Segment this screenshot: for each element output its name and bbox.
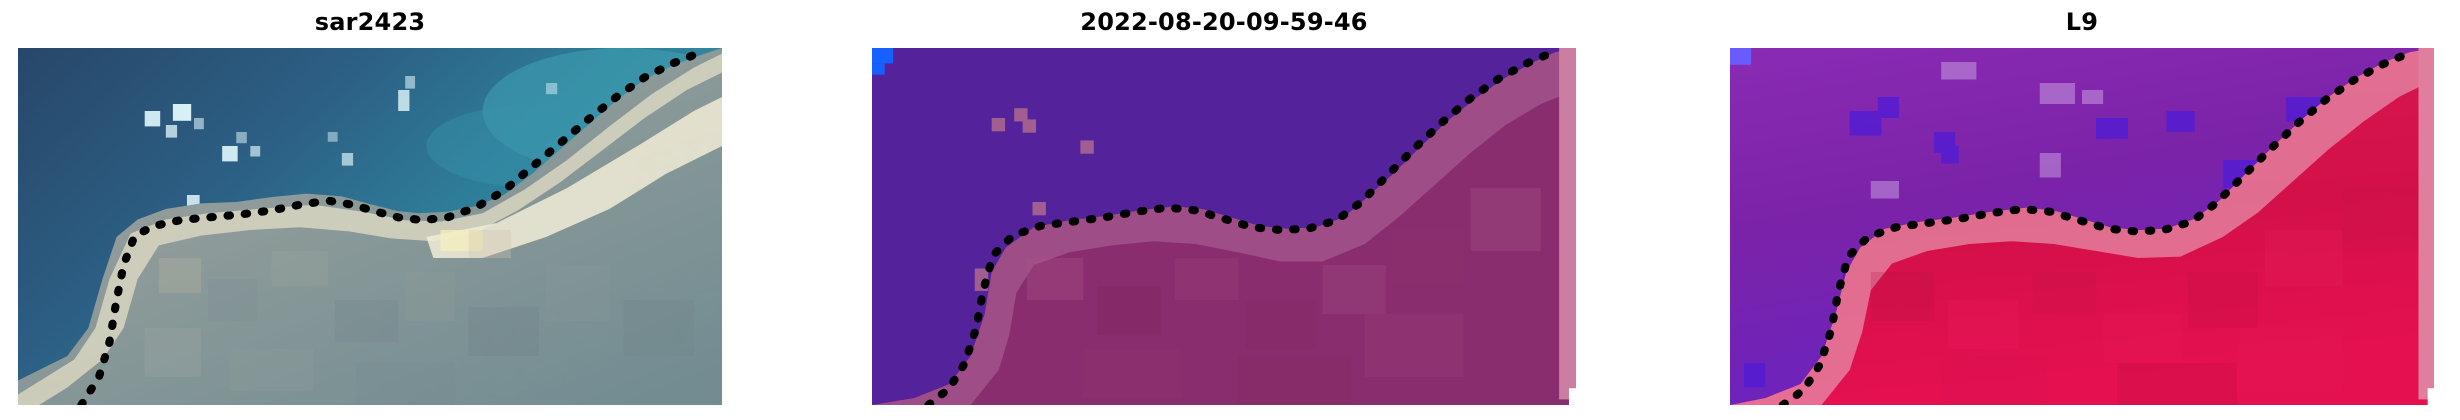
image-panel-classification[interactable]: sand whitewater water shoreline referenc…: [872, 48, 1576, 405]
reference-shoreline-buffer-strip: [1559, 48, 1576, 399]
index-false-colour-raster: [1730, 48, 2434, 405]
panel-title-2: 2022-08-20-09-59-46: [872, 8, 1576, 36]
image-panel-sar2423[interactable]: [18, 48, 722, 405]
reference-shoreline-buffer-strip: [2419, 48, 2434, 399]
panel-title-1: sar2423: [18, 8, 722, 36]
water-class-patch: [1730, 48, 1751, 65]
figure-root: sar2423 2022-08-20-09-59-46 L9: [0, 0, 2460, 420]
satellite-rgb-raster: [18, 48, 722, 405]
panel-title-3: L9: [1730, 8, 2434, 36]
classification-raster: [872, 48, 1576, 405]
image-panel-L9[interactable]: [1730, 48, 2434, 405]
